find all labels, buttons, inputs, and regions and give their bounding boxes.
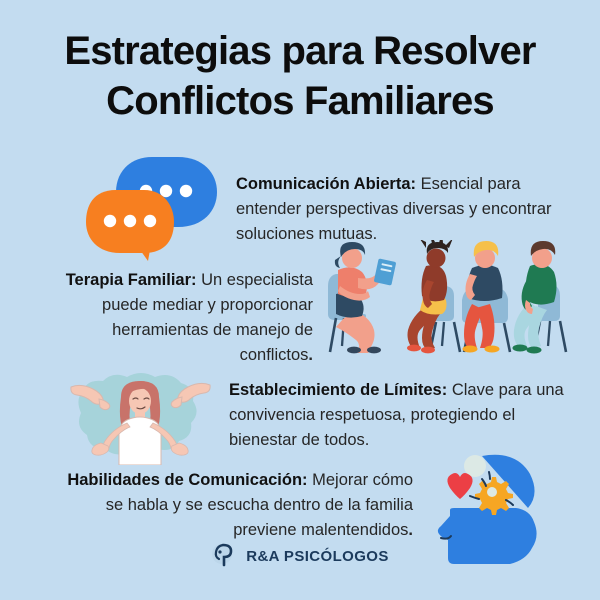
infographic-canvas: Estrategias para Resolver Conflictos Fam… [0,0,600,600]
group-therapy-illustration [314,240,600,362]
page-title: Estrategias para Resolver Conflictos Fam… [0,26,600,126]
orange-speech-bubble [86,190,174,261]
client-figure-3 [513,241,567,354]
head-profile-logo-icon [211,541,237,572]
block-body-period: . [308,346,313,364]
block-lead-label: Terapia Familiar: [66,271,197,289]
text-block-habilidades-de-comunicacion: Habilidades de Comunicación: Mejorar cóm… [58,468,413,543]
text-block-terapia-familiar: Terapia Familiar: Un especialista puede … [58,268,313,368]
therapist-figure [328,242,396,353]
heart-icon [447,473,472,499]
block-lead-label: Comunicación Abierta: [236,175,416,193]
speech-bubbles-illustration [86,155,218,261]
block-lead-label: Establecimiento de Límites: [229,381,447,399]
client-figure-1 [407,240,460,353]
brand-logo-text: R&A PSICÓLOGOS [246,548,389,565]
block-lead-label: Habilidades de Comunicación: [67,471,307,489]
page-title-line-1: Estrategias para Resolver [0,26,600,76]
text-block-establecimiento-de-limites: Establecimiento de Límites: Clave para u… [229,378,569,453]
page-title-line-2: Conflictos Familiares [0,76,600,126]
brand-logo: R&A PSICÓLOGOS [0,541,600,572]
gear-icon [475,477,513,515]
block-body-period: . [408,521,413,539]
client-figure-2 [462,241,510,353]
text-block-comunicacion-abierta: Comunicación Abierta: Esencial para ente… [236,172,566,247]
boundaries-illustration [69,373,212,465]
